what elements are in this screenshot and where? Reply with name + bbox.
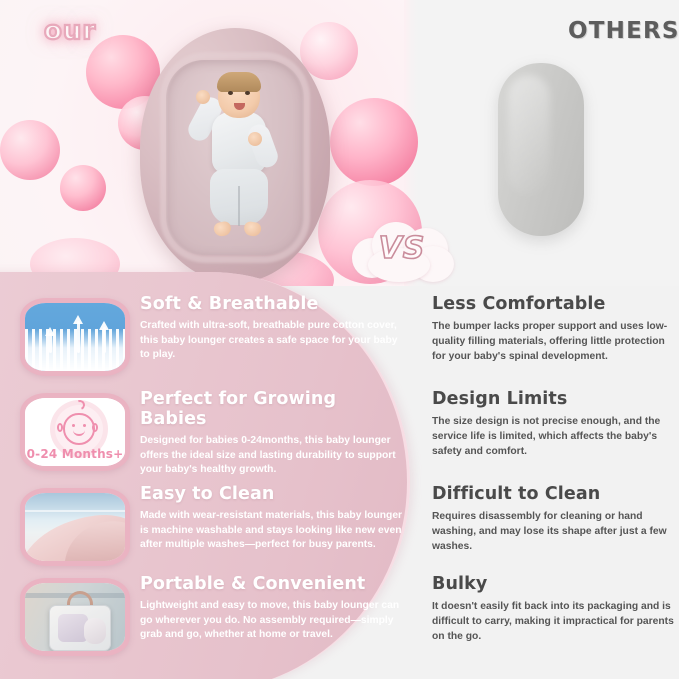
- others-label: OTHERS: [568, 18, 679, 44]
- other-feature-title: Design Limits: [432, 389, 676, 409]
- decorative-bubble: [0, 120, 60, 180]
- our-product-image: [140, 28, 330, 283]
- infographic-page: our OTHERS VS Soft & Breathable: [0, 0, 679, 679]
- comparison-section: Soft & Breathable Crafted with ultra-sof…: [0, 286, 679, 679]
- airflow-arrow-icon: [103, 327, 106, 353]
- baby-face-icon: [55, 405, 103, 453]
- our-feature-3: Easy to Clean Made with wear-resistant m…: [140, 484, 405, 553]
- other-feature-title: Bulky: [432, 574, 676, 594]
- other-feature-body: Requires disassembly for cleaning or han…: [432, 510, 676, 555]
- feature-thumbnail-portable: [20, 578, 130, 656]
- our-feature-body: Made with wear-resistant materials, this…: [140, 509, 405, 553]
- baby-ear-left: [57, 423, 63, 432]
- other-feature-3: Difficult to Clean Requires disassembly …: [432, 484, 676, 555]
- other-feature-body: The size design is not precise enough, a…: [432, 415, 676, 460]
- decorative-bubble: [60, 165, 106, 211]
- baby-hair: [217, 72, 261, 92]
- baby-hair-curl: [73, 398, 86, 411]
- decorative-bubble: [330, 98, 418, 186]
- breathable-mesh-fabric-photo: [25, 303, 125, 371]
- airflow-arrow-icon: [77, 321, 80, 353]
- carry-bag-photo: [25, 583, 125, 651]
- feature-thumbnail-age-range: 0-24 Months+: [20, 393, 130, 471]
- our-feature-4: Portable & Convenient Lightweight and ea…: [140, 574, 405, 643]
- baby-right-hand: [248, 132, 262, 146]
- baby-leg-seam: [238, 186, 240, 226]
- fabric-fibers: [25, 329, 125, 371]
- other-feature-4: Bulky It doesn't easily fit back into it…: [432, 574, 676, 645]
- age-range-text: 0-24 Months+: [25, 447, 125, 461]
- our-feature-title: Portable & Convenient: [140, 574, 405, 594]
- other-feature-title: Difficult to Clean: [432, 484, 676, 504]
- feature-thumbnail-washable: [20, 488, 130, 566]
- other-feature-body: It doesn't easily fit back into its pack…: [432, 600, 676, 645]
- our-feature-2: Perfect for Growing Babies Designed for …: [140, 389, 405, 478]
- baby-face-outline: [63, 413, 95, 445]
- our-feature-title: Perfect for Growing Babies: [140, 389, 405, 429]
- our-brand-label: our: [44, 16, 96, 46]
- age-range-badge-photo: 0-24 Months+: [25, 398, 125, 466]
- baby-ear-right: [92, 423, 98, 432]
- baby-figure: [192, 74, 284, 244]
- our-feature-body: Crafted with ultra-soft, breathable pure…: [140, 319, 405, 363]
- water-horizon-line: [25, 510, 125, 512]
- hero-section: our OTHERS VS: [0, 0, 679, 290]
- baby-eye-right: [245, 91, 250, 95]
- vs-badge: VS: [346, 218, 458, 286]
- baby-eye-left: [228, 91, 233, 95]
- other-feature-2: Design Limits The size design is not pre…: [432, 389, 676, 460]
- baby-right-foot: [243, 221, 262, 238]
- washable-fabric-photo: [25, 493, 125, 561]
- airflow-arrow-icon: [49, 333, 52, 353]
- our-feature-title: Easy to Clean: [140, 484, 405, 504]
- competitor-product-image: [498, 63, 584, 236]
- our-feature-body: Lightweight and easy to move, this baby …: [140, 599, 405, 643]
- carry-bag-body: [49, 605, 111, 651]
- other-feature-body: The bumper lacks proper support and uses…: [432, 320, 676, 365]
- our-feature-body: Designed for babies 0-24months, this bab…: [140, 434, 405, 478]
- baby-left-foot: [213, 220, 233, 237]
- vs-label: VS: [346, 231, 458, 266]
- baby-left-hand: [196, 90, 210, 104]
- our-feature-title: Soft & Breathable: [140, 294, 405, 314]
- packed-lounger: [84, 618, 106, 644]
- our-feature-1: Soft & Breathable Crafted with ultra-sof…: [140, 294, 405, 363]
- feature-thumbnail-breathable: [20, 298, 130, 376]
- other-feature-1: Less Comfortable The bumper lacks proper…: [432, 294, 676, 365]
- other-feature-title: Less Comfortable: [432, 294, 676, 314]
